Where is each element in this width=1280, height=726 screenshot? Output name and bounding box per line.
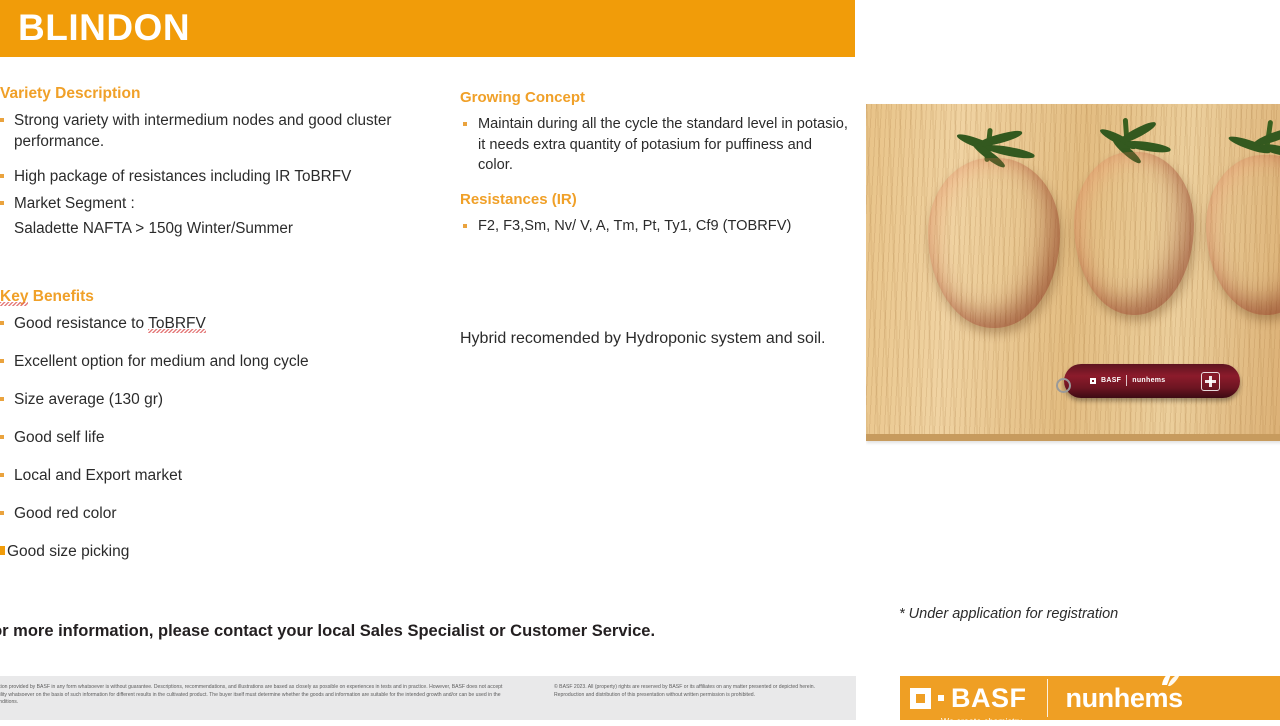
key-benefits-list: Good resistance to ToBRFV Excellent opti… [0,313,412,562]
contact-line: For more information, please contact you… [0,622,655,641]
basf-square-icon [1090,378,1096,384]
key-benefits-heading-rest: Benefits [28,288,93,305]
list-item: Good resistance to ToBRFV [0,313,412,334]
growing-concept-heading: Growing Concept [460,88,585,108]
basf-square-icon [910,688,931,709]
legal-copyright-right: © BASF 2023. All (property) rights are r… [554,684,844,699]
nunhems-wordmark: nunhems [1066,683,1183,713]
knife-basf-label: BASF [1101,377,1121,384]
list-item: Size average (130 gr) [0,389,412,410]
legal-disclaimer-left: Information provided by BASF in any form… [0,684,512,707]
left-column: Variety Description Strong variety with … [0,84,412,562]
list-item: Good size picking [0,541,412,562]
knife-keyring [1056,378,1071,393]
variety-description-list: Strong variety with intermedium nodes an… [0,110,412,214]
basf-tagline: We create chemistry [941,716,1022,726]
resistances-heading: Resistances (IR) [460,190,577,210]
list-item: Strong variety with intermedium nodes an… [0,110,412,152]
list-item: Maintain during all the cycle the standa… [460,114,850,176]
key-benefits-heading: Key Benefits [0,287,94,307]
logo-divider [1047,679,1048,717]
nunhems-leaf-icon [1159,671,1181,687]
brand-logo-block: BASF We create chemistry nunhems [900,676,1280,720]
basf-dot-icon [938,695,944,701]
registration-note: * Under application for registration [899,606,1118,622]
middle-column: Growing Concept Maintain during all the … [460,88,850,350]
variety-description-heading: Variety Description [0,84,140,104]
list-item: Good self life [0,427,412,448]
knife-branding: BASF nunhems [1090,375,1165,386]
basf-logo: BASF [910,685,1027,712]
list-item: Excellent option for medium and long cyc… [0,351,412,372]
basf-wordmark: BASF [951,685,1027,712]
key-benefits-heading-spellcheck: Key [0,288,28,305]
list-item: Market Segment : [0,193,412,214]
resistances-list: F2, F3,Sm, Nv/ V, A, Tm, Pt, Ty1, Cf9 (T… [460,216,850,237]
list-item: High package of resistances including IR… [0,166,412,187]
list-item: Local and Export market [0,465,412,486]
list-item: F2, F3,Sm, Nv/ V, A, Tm, Pt, Ty1, Cf9 (T… [460,216,850,237]
product-photo: BASF nunhems [866,92,1280,458]
list-item: Good red color [0,503,412,524]
branded-pocket-knife: BASF nunhems [1064,364,1240,398]
benefit-text-prefix: Good resistance to [14,315,148,332]
knife-divider [1126,375,1127,386]
nunhems-wordmark-wrap: nunhems [1066,685,1183,712]
market-segment-detail: Saladette NAFTA > 150g Winter/Summer [0,218,412,239]
hybrid-note: Hybrid recomended by Hydroponic system a… [460,328,850,350]
knife-nunhems-label: nunhems [1132,377,1165,384]
page-title: BLINDON [18,5,190,51]
tobrfv-term: ToBRFV [148,315,206,332]
swiss-cross-icon [1201,372,1220,391]
growing-concept-list: Maintain during all the cycle the standa… [460,114,850,176]
